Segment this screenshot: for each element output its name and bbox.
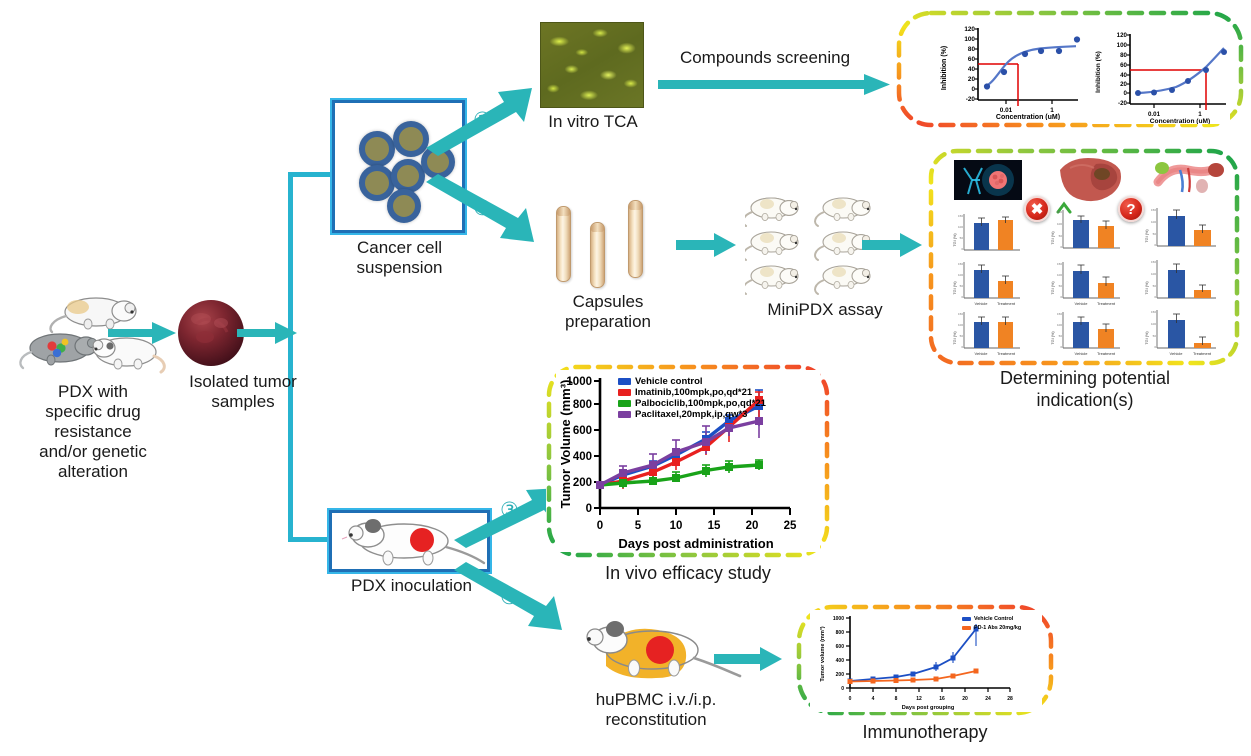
tumor-sample-label: Isolated tumor samples	[168, 372, 318, 412]
svg-text:0: 0	[1060, 245, 1062, 249]
svg-text:TGI (%): TGI (%)	[953, 331, 957, 345]
svg-text:Treatment: Treatment	[997, 301, 1016, 306]
svg-text:200: 200	[573, 477, 592, 489]
svg-text:800: 800	[836, 630, 845, 636]
svg-text:Days post administration: Days post administration	[618, 536, 773, 551]
svg-text:150: 150	[1151, 208, 1156, 212]
svg-text:8: 8	[895, 696, 898, 702]
svg-text:120: 120	[1117, 32, 1128, 39]
hupbmc-label: huPBMC i.v./i.p. reconstitution	[556, 690, 756, 730]
svg-text:200: 200	[836, 672, 845, 678]
svg-text:800: 800	[573, 399, 592, 411]
svg-text:Concentration (uM): Concentration (uM)	[1150, 118, 1210, 124]
legend-item-paclitaxel: Paclitaxel,20mpk,ip,qw*3	[618, 409, 766, 420]
immunotherapy-legend: Vehicle Control PD-1 Abs 20mg/kg	[962, 616, 1021, 631]
arrow-capsules-to-minipdx	[676, 230, 738, 265]
svg-text:0: 0	[1154, 295, 1156, 299]
svg-text:40: 40	[1120, 72, 1127, 79]
svg-text:0.01: 0.01	[1000, 107, 1013, 114]
verdict-badge-x: ✖	[1024, 196, 1050, 222]
panel-in-vivo-efficacy: 0 200 400 600 800 1000	[546, 364, 830, 558]
svg-text:1000: 1000	[833, 616, 844, 622]
svg-text:100: 100	[1057, 273, 1062, 277]
svg-text:100: 100	[958, 323, 963, 327]
arrow-minipdx-to-indications	[862, 230, 924, 265]
svg-text:50: 50	[960, 236, 964, 240]
arrow-branch-1	[424, 88, 536, 163]
tgi-chart-c2r2: TGI (%) 150100500 Vehicle Treatment	[1048, 258, 1122, 310]
compounds-screening-label: Compounds screening	[660, 48, 870, 68]
svg-text:150: 150	[958, 262, 963, 266]
svg-text:60: 60	[968, 56, 976, 63]
svg-text:0: 0	[586, 503, 592, 515]
legend-swatch-vehicle	[618, 378, 631, 385]
liver-image	[1056, 154, 1122, 202]
legend-item-palbociclib: Palbociclib,100mpk,po,qd*21	[618, 398, 766, 409]
legend-label-palbociclib: Palbociclib,100mpk,po,qd*21	[635, 398, 766, 409]
svg-text:20: 20	[1120, 81, 1127, 88]
svg-text:100: 100	[958, 225, 963, 229]
svg-text:Inhibition (%): Inhibition (%)	[941, 46, 948, 90]
svg-text:50: 50	[960, 284, 964, 288]
svg-text:150: 150	[1057, 262, 1062, 266]
svg-text:100: 100	[1151, 220, 1156, 224]
svg-text:150: 150	[958, 312, 963, 316]
svg-text:40: 40	[968, 66, 976, 73]
svg-text:0: 0	[1060, 295, 1062, 299]
arrow-tumor-to-branch	[237, 318, 299, 353]
chart-in-vivo-efficacy: 0 200 400 600 800 1000	[556, 370, 820, 552]
svg-text:Tumor Volume (mm³): Tumor Volume (mm³)	[558, 380, 573, 509]
capsule-2	[590, 222, 605, 288]
svg-text:-20: -20	[1118, 100, 1128, 107]
svg-text:Vehicle: Vehicle	[975, 351, 989, 356]
svg-text:50: 50	[1153, 334, 1157, 338]
pancreas-image	[1150, 156, 1224, 202]
svg-text:Vehicle: Vehicle	[1170, 351, 1184, 356]
svg-text:120: 120	[964, 26, 975, 33]
svg-text:25: 25	[784, 520, 797, 532]
svg-text:600: 600	[836, 644, 845, 650]
legend-label-vehicle: Vehicle control	[635, 376, 703, 387]
svg-text:Inhibition (%): Inhibition (%)	[1095, 51, 1102, 93]
svg-text:0: 0	[849, 696, 852, 702]
svg-text:Vehicle: Vehicle	[1075, 301, 1089, 306]
panel-compounds-screening: 120 100 80 60 40 20 0 -20	[896, 10, 1244, 128]
svg-text:15: 15	[708, 520, 721, 532]
svg-text:1: 1	[1050, 107, 1054, 114]
svg-text:-20: -20	[966, 96, 976, 103]
bracket-trunk	[288, 172, 293, 542]
workflow-diagram: PDX with specific drug resistance and/or…	[0, 0, 1251, 756]
tgi-chart-c2r3: TGI (%) 150100500 Vehicle Treatment	[1048, 308, 1122, 360]
svg-text:TGI (%): TGI (%)	[1145, 281, 1149, 295]
legend-label-imatinib: Imatinib,100mpk,po,qd*21	[635, 387, 752, 398]
svg-text:80: 80	[968, 46, 976, 53]
tgi-chart-c1r2: TGI (%) 150100500 Vehicle Treatment	[950, 258, 1022, 310]
in-vivo-caption: In vivo efficacy study	[568, 563, 808, 584]
svg-text:0: 0	[841, 686, 844, 692]
svg-text:0.01: 0.01	[1148, 111, 1161, 118]
svg-text:150: 150	[1057, 210, 1062, 214]
svg-text:Vehicle: Vehicle	[975, 301, 989, 306]
arrow-pdx-to-tumor	[108, 318, 178, 353]
svg-text:50: 50	[1153, 284, 1157, 288]
tgi-chart-c1r3: TGI (%) 150100500 Vehicle Treatment	[950, 308, 1022, 360]
svg-text:0: 0	[961, 247, 963, 251]
capsules-label: Capsules preparation	[538, 292, 678, 332]
minipdx-label: MiniPDX assay	[740, 300, 910, 320]
svg-text:150: 150	[1057, 312, 1062, 316]
svg-text:TGI (%): TGI (%)	[953, 281, 957, 295]
arrow-branch-2	[424, 172, 536, 247]
svg-text:80: 80	[1120, 52, 1127, 59]
svg-text:Tumor volume (mm³): Tumor volume (mm³)	[819, 626, 826, 681]
svg-text:50: 50	[1059, 334, 1063, 338]
svg-text:50: 50	[1059, 234, 1063, 238]
legend-item-vehicle-control: Vehicle Control	[962, 616, 1021, 622]
svg-text:50: 50	[1059, 284, 1063, 288]
legend-swatch-vehicle-control	[962, 617, 971, 621]
in-vitro-tca-label: In vitro TCA	[528, 112, 658, 132]
arrow-branch-4	[452, 562, 564, 639]
svg-text:16: 16	[939, 696, 945, 702]
svg-text:0: 0	[961, 345, 963, 349]
svg-text:600: 600	[573, 425, 592, 437]
svg-text:Treatment: Treatment	[997, 351, 1016, 356]
svg-text:TGI (%): TGI (%)	[1051, 231, 1055, 245]
micrograph-icon	[540, 22, 644, 108]
legend-item-pd1: PD-1 Abs 20mg/kg	[962, 625, 1021, 631]
chart-dose-response-left: 120 100 80 60 40 20 0 -20	[934, 20, 1082, 120]
svg-text:100: 100	[1151, 272, 1156, 276]
svg-text:4: 4	[872, 696, 875, 702]
svg-text:0: 0	[1060, 345, 1062, 349]
svg-text:Treatment: Treatment	[1097, 301, 1116, 306]
legend-swatch-pd1	[962, 626, 971, 630]
svg-text:0: 0	[1154, 345, 1156, 349]
arrow-compounds-screening	[658, 72, 892, 103]
svg-text:Treatment: Treatment	[1097, 351, 1116, 356]
svg-text:400: 400	[573, 451, 592, 463]
svg-text:100: 100	[964, 36, 975, 43]
legend-label-paclitaxel: Paclitaxel,20mpk,ip,qw*3	[635, 409, 747, 420]
svg-text:Concentration (uM): Concentration (uM)	[996, 114, 1060, 120]
tgi-chart-c3r2: TGI (%) 150100500	[1142, 256, 1218, 308]
indications-caption: Determining potential indication(s)	[950, 368, 1220, 412]
svg-text:50: 50	[1153, 232, 1157, 236]
svg-text:Treatment: Treatment	[1193, 351, 1212, 356]
svg-text:TGI (%): TGI (%)	[1051, 331, 1055, 345]
svg-text:100: 100	[1057, 222, 1062, 226]
svg-text:150: 150	[1151, 310, 1156, 314]
svg-text:20: 20	[746, 520, 759, 532]
svg-text:100: 100	[1057, 323, 1062, 327]
svg-text:0: 0	[1124, 90, 1128, 97]
chart-immunotherapy: 0200 400600 8001000 04 812 1620	[810, 610, 1042, 712]
panel-determining-indications: ✖ ? TGI (%)	[928, 148, 1240, 366]
pdx-source-label: PDX with specific drug resistance and/or…	[8, 382, 178, 482]
svg-text:10: 10	[670, 520, 683, 532]
svg-text:TGI (%): TGI (%)	[1145, 229, 1149, 243]
svg-text:50: 50	[960, 334, 964, 338]
tgi-chart-c1r1: TGI (%) 150100500	[950, 210, 1022, 258]
legend-swatch-palbociclib	[618, 400, 631, 407]
panel-immunotherapy: 0200 400600 8001000 04 812 1620	[796, 604, 1054, 716]
svg-text:400: 400	[836, 658, 845, 664]
svg-text:0: 0	[1154, 243, 1156, 247]
svg-text:20: 20	[968, 76, 976, 83]
svg-text:100: 100	[958, 273, 963, 277]
svg-text:20: 20	[962, 696, 968, 702]
svg-text:0: 0	[597, 520, 603, 532]
in-vivo-legend: Vehicle control Imatinib,100mpk,po,qd*21…	[618, 376, 766, 420]
svg-text:0: 0	[971, 86, 975, 93]
arrow-hupbmc-to-immunotherapy	[714, 644, 784, 679]
svg-text:0: 0	[961, 295, 963, 299]
svg-text:TGI (%): TGI (%)	[953, 233, 957, 247]
svg-text:28: 28	[1007, 696, 1013, 702]
svg-text:12: 12	[916, 696, 922, 702]
legend-label-vehicle-control: Vehicle Control	[974, 616, 1013, 622]
svg-text:24: 24	[985, 696, 991, 702]
svg-text:Days post grouping: Days post grouping	[902, 705, 955, 711]
capsules-icon	[548, 198, 666, 288]
svg-text:60: 60	[1120, 62, 1127, 69]
uterus-ovary-image	[954, 160, 1022, 200]
legend-label-pd1: PD-1 Abs 20mg/kg	[974, 625, 1021, 631]
svg-text:100: 100	[1151, 322, 1156, 326]
tgi-chart-c2r1: TGI (%) 150100500	[1048, 206, 1122, 258]
tgi-chart-c3r1: TGI (%) 150100500	[1142, 204, 1218, 256]
legend-item-vehicle: Vehicle control	[618, 376, 766, 387]
svg-text:Vehicle: Vehicle	[1075, 351, 1089, 356]
capsule-1	[556, 206, 571, 282]
chart-dose-response-right: 120 100 80 60 40 20 0 -20	[1088, 26, 1230, 124]
svg-text:TGI (%): TGI (%)	[1145, 331, 1149, 345]
svg-text:1: 1	[1198, 111, 1202, 118]
svg-text:5: 5	[635, 520, 642, 532]
capsule-3	[628, 200, 643, 278]
legend-swatch-imatinib	[618, 389, 631, 396]
tgi-chart-c3r3: TGI (%) 150100500 Vehicle Treatment	[1142, 306, 1218, 360]
svg-text:100: 100	[1117, 42, 1128, 49]
legend-item-imatinib: Imatinib,100mpk,po,qd*21	[618, 387, 766, 398]
legend-swatch-paclitaxel	[618, 411, 631, 418]
immunotherapy-caption: Immunotherapy	[830, 722, 1020, 743]
svg-text:150: 150	[958, 214, 963, 218]
svg-text:TGI (%): TGI (%)	[1051, 281, 1055, 295]
svg-text:150: 150	[1151, 260, 1156, 264]
